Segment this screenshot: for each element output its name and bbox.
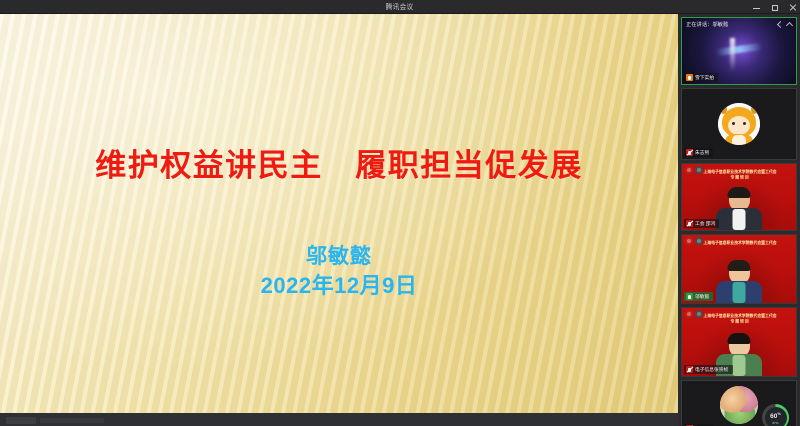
minimize-button[interactable] xyxy=(752,3,761,12)
chevron-down-icon[interactable] xyxy=(777,21,784,28)
person-silhouette xyxy=(716,187,762,230)
slide-title: 维护权益讲民主 履职担当促发展 xyxy=(0,140,678,185)
microphone-on-icon xyxy=(686,74,693,81)
window-titlebar: 腾讯会议 xyxy=(0,0,800,14)
slide-date: 2022年12月9日 xyxy=(0,268,678,300)
video-indicator-icon xyxy=(695,237,703,245)
active-speaker-label: 正在讲话：邬敏懿 xyxy=(686,20,728,28)
tile-header-icons[interactable] xyxy=(685,310,703,318)
participant-name: 朱志熙 xyxy=(695,149,709,156)
shared-screen-stage[interactable]: 维护权益讲民主 履职担当促发展 邬敏懿 2022年12月9日 xyxy=(0,14,678,413)
person-silhouette xyxy=(716,260,762,303)
participant-name-chip: 电子信息张崇桢 xyxy=(684,365,733,374)
tile-header xyxy=(682,164,796,176)
video-indicator-icon xyxy=(695,166,703,174)
participant-tile[interactable]: 60% 87% 刘泽飞 xyxy=(681,380,797,426)
tile-header-icons[interactable] xyxy=(685,237,703,245)
avatar xyxy=(720,386,758,424)
window-controls xyxy=(752,0,797,14)
taskbar-item[interactable] xyxy=(6,417,36,424)
close-button[interactable] xyxy=(788,3,797,12)
microphone-muted-icon xyxy=(686,366,693,373)
tile-header: 正在讲话：邬敏懿 xyxy=(682,18,796,30)
video-indicator-icon xyxy=(695,310,703,318)
slide-presenter-name: 邬敏懿 xyxy=(0,240,678,270)
participant-name-chip: 雪下实拍 xyxy=(684,73,718,82)
participant-filmstrip[interactable]: 正在讲话：邬敏懿 雪下实拍 xyxy=(678,14,800,426)
progress-ring: 60% 87% xyxy=(762,404,789,426)
tencent-meeting-window: 腾讯会议 维护权益讲民主 履职担当促发展 邬敏懿 2022年12月9日 正在讲话… xyxy=(0,0,800,426)
taskbar-item-secondary[interactable] xyxy=(40,418,104,423)
mute-indicator-icon xyxy=(685,310,693,318)
participant-name-chip: 邬敏懿 xyxy=(684,292,713,301)
participant-tile[interactable]: 上海电子信息职业技术学院教代会暨工代会 邬敏懿 xyxy=(681,234,797,304)
tile-header xyxy=(682,235,796,247)
mute-indicator-icon xyxy=(685,237,693,245)
tile-header-icons[interactable] xyxy=(777,21,793,28)
participant-name-chip: 工会 邵鸿 xyxy=(684,219,719,228)
participant-tile[interactable]: 上海电子信息职业技术学院教代会暨工代会 专题培训 工会 邵鸿 xyxy=(681,163,797,231)
participant-tile[interactable]: 朱志熙 xyxy=(681,88,797,160)
mute-indicator-icon xyxy=(685,166,693,174)
microphone-muted-icon xyxy=(686,220,693,227)
participant-name: 工会 邵鸿 xyxy=(695,220,715,227)
participant-name-chip: 朱志熙 xyxy=(684,148,713,157)
progress-value: 60% xyxy=(770,410,781,420)
maximize-button[interactable] xyxy=(770,3,779,12)
chevron-up-icon[interactable] xyxy=(786,21,793,28)
microphone-muted-icon xyxy=(686,149,693,156)
bottom-toolbar[interactable] xyxy=(0,413,678,426)
participant-tile[interactable]: 上海电子信息职业技术学院教代会暨工代会 专题培训 电子信息张崇桢 xyxy=(681,307,797,377)
progress-sublabel: 87% xyxy=(772,421,778,425)
avatar xyxy=(718,103,760,145)
tile-header-icons[interactable] xyxy=(685,166,703,174)
participant-tile[interactable]: 正在讲话：邬敏懿 雪下实拍 xyxy=(681,17,797,85)
participant-name: 雪下实拍 xyxy=(695,74,714,81)
participant-name: 电子信息张崇桢 xyxy=(695,366,728,373)
participant-name: 邬敏懿 xyxy=(695,293,709,300)
window-title: 腾讯会议 xyxy=(386,2,414,12)
tile-header xyxy=(682,308,796,320)
presentation-slide: 维护权益讲民主 履职担当促发展 邬敏懿 2022年12月9日 xyxy=(0,14,678,413)
microphone-speaking-icon xyxy=(686,293,693,300)
